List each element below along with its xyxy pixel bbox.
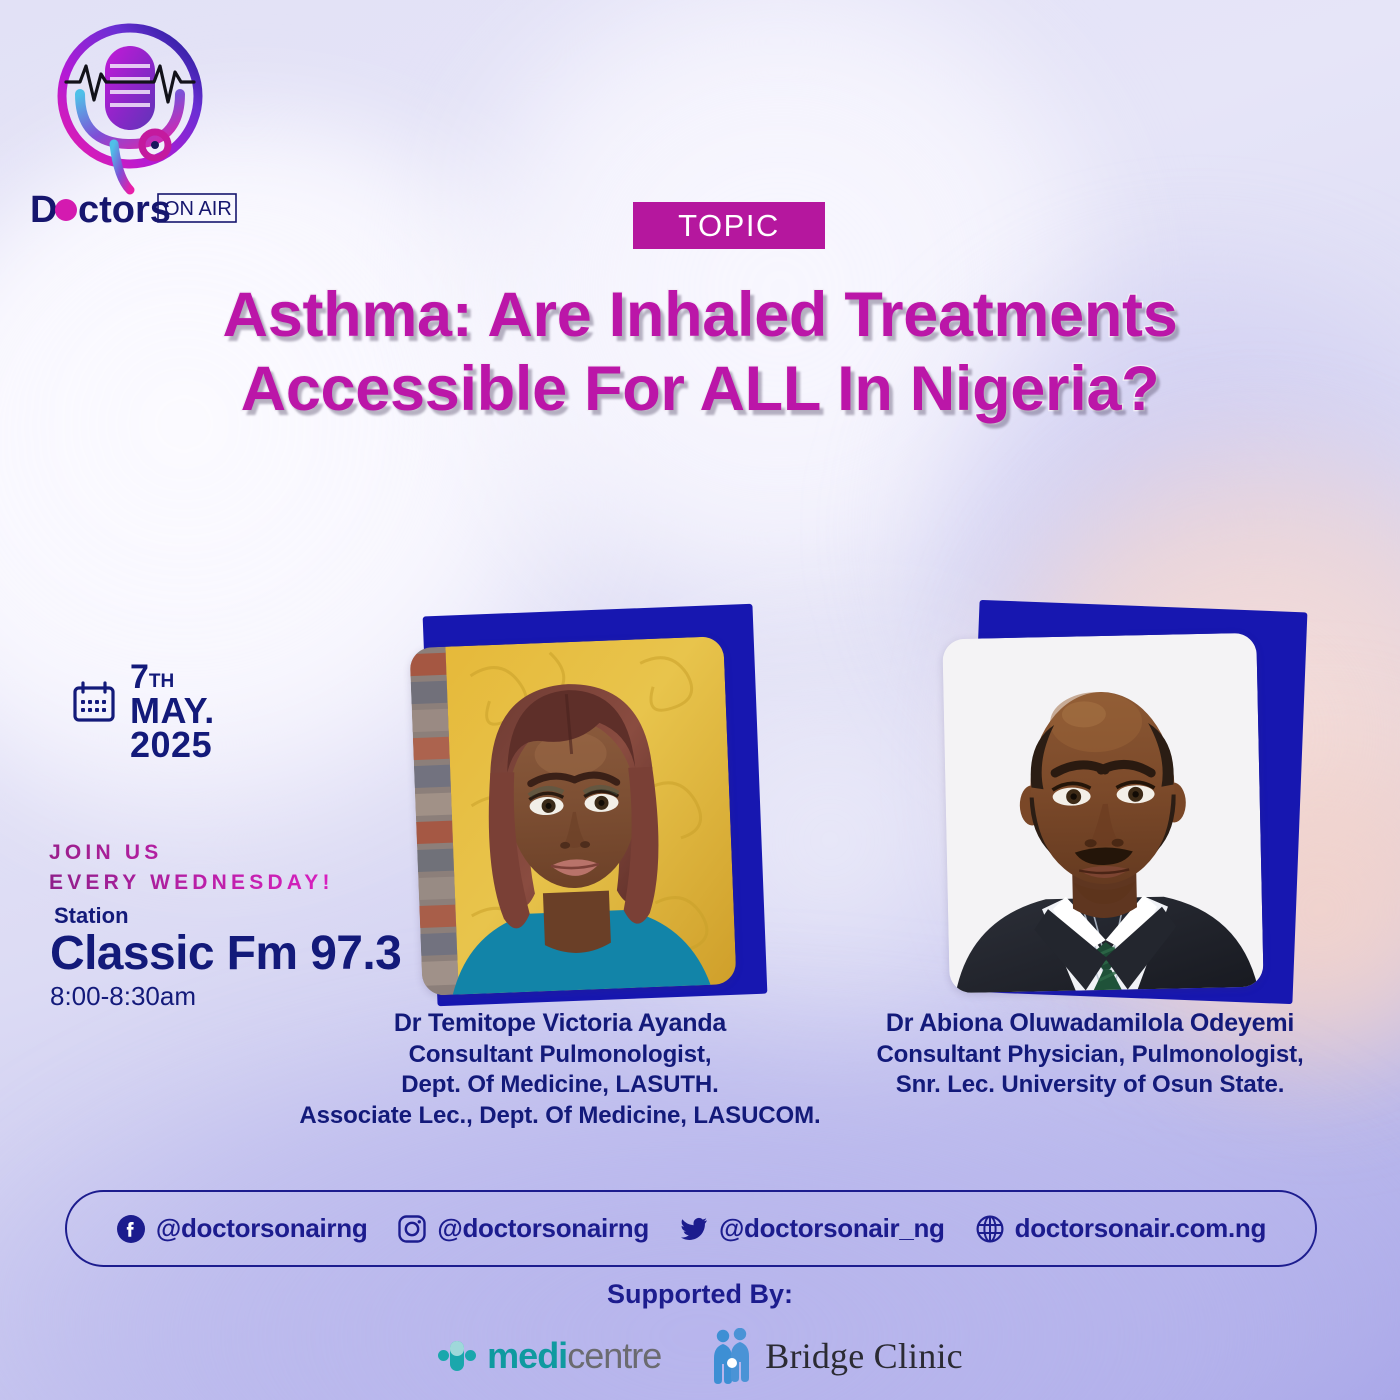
speaker-photo-1 [392, 596, 774, 1010]
medicentre-cross-icon [437, 1339, 477, 1373]
page-title-line-1: Asthma: Are Inhaled Treatments [0, 278, 1400, 352]
speaker-role-line: Dept. Of Medicine, LASUTH. [215, 1070, 905, 1100]
medicentre-wordmark-light: centre [567, 1335, 661, 1376]
speaker-portrait-male [942, 633, 1263, 993]
sponsor-bridge-clinic: Bridge Clinic [709, 1328, 963, 1384]
instagram-icon[interactable] [397, 1214, 427, 1244]
event-date-day-suffix: TH [149, 671, 174, 692]
bridgeclinic-people-icon [709, 1328, 755, 1384]
topic-badge-label: TOPIC [678, 210, 780, 241]
speaker-portrait-female [409, 636, 736, 996]
join-us-line-2: EVERY WEDNESDAY! [49, 868, 334, 898]
social-handle[interactable]: @doctorsonairng [437, 1213, 649, 1244]
page-title: Asthma: Are Inhaled Treatments Accessibl… [0, 278, 1400, 427]
sponsor-logos: medicentre Bridge Clinic [0, 1328, 1400, 1384]
speaker-role-line: Snr. Lec. University of Osun State. [845, 1070, 1335, 1100]
logo-wordmark: D ctors ON AIR [30, 189, 236, 231]
event-date-year: 2025 [130, 728, 215, 762]
social-link-twitter[interactable]: @doctorsonair_ng [679, 1213, 945, 1244]
event-date: 7TH MAY. 2025 [72, 662, 215, 762]
calendar-icon [72, 680, 116, 724]
doctors-on-air-logo: D ctors ON AIR [18, 14, 250, 236]
join-us-line-1: JOIN US [49, 838, 334, 868]
svg-text:ON AIR: ON AIR [164, 198, 232, 220]
page-title-line-2: Accessible For ALL In Nigeria? [0, 352, 1400, 426]
speaker-role-line: Consultant Physician, Pulmonologist, [845, 1040, 1335, 1070]
globe-icon[interactable] [975, 1214, 1005, 1244]
speaker-name: Dr Temitope Victoria Ayanda [215, 1008, 905, 1040]
event-date-text: 7TH MAY. 2025 [130, 662, 215, 762]
speaker-name: Dr Abiona Oluwadamilola Odeyemi [845, 1008, 1335, 1040]
event-date-month: MAY. [130, 694, 215, 728]
social-handle[interactable]: @doctorsonairng [156, 1213, 368, 1244]
speaker-caption-1: Dr Temitope Victoria Ayanda Consultant P… [215, 1008, 905, 1131]
bridge-clinic-wordmark: Bridge Clinic [765, 1335, 963, 1377]
join-us-callout: JOIN US EVERY WEDNESDAY! [49, 838, 334, 899]
station-name: Classic Fm 97.3 [50, 929, 401, 980]
social-handle[interactable]: doctorsonair.com.ng [1015, 1213, 1266, 1244]
station-label: Station [54, 903, 401, 929]
svg-text:D: D [30, 189, 57, 231]
social-handle[interactable]: @doctorsonair_ng [719, 1213, 945, 1244]
social-links-bar: @doctorsonairng @doctorsonairng @doctors… [65, 1190, 1317, 1267]
svg-text:ctors: ctors [78, 189, 171, 231]
twitter-icon[interactable] [679, 1214, 709, 1244]
facebook-icon[interactable] [116, 1214, 146, 1244]
sponsor-medicentre: medicentre [437, 1335, 661, 1377]
speaker-role-line: Associate Lec., Dept. Of Medicine, LASUC… [215, 1101, 905, 1131]
speaker-photo-2 [920, 596, 1310, 1010]
supported-by-label: Supported By: [0, 1279, 1400, 1310]
social-link-instagram[interactable]: @doctorsonairng [397, 1213, 649, 1244]
topic-badge: TOPIC [633, 202, 825, 249]
social-link-website[interactable]: doctorsonair.com.ng [975, 1213, 1266, 1244]
speaker-caption-2: Dr Abiona Oluwadamilola Odeyemi Consulta… [845, 1008, 1335, 1101]
station-block: Station Classic Fm 97.3 8:00-8:30am [50, 903, 401, 1012]
speaker-role-line: Consultant Pulmonologist, [215, 1040, 905, 1070]
social-link-facebook[interactable]: @doctorsonairng [116, 1213, 368, 1244]
medicentre-wordmark: medicentre [487, 1335, 661, 1377]
medicentre-wordmark-bold: medi [487, 1335, 567, 1376]
